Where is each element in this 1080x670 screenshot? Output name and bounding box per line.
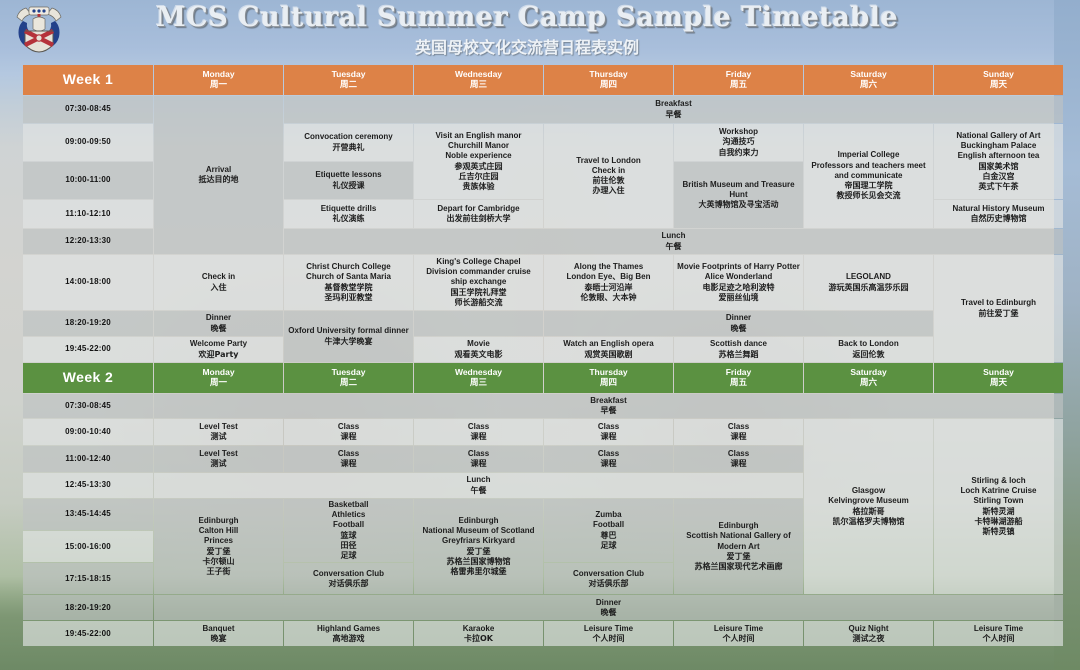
week2-label: Week 2 — [23, 363, 153, 393]
week1-label: Week 1 — [23, 65, 153, 95]
week2-tue-class-2: Class课程 — [284, 446, 413, 472]
week1-tue-etiquette-drills: Etiquette drills礼仪演练 — [284, 200, 413, 228]
week2-fri-modern-art: Edinburgh Scottish National Gallery of M… — [674, 499, 803, 594]
week1-dinner: Dinner晚餐 — [544, 311, 933, 336]
week2-tue-class-1: Class课程 — [284, 419, 413, 445]
week1-time-0900: 09:00-09:50 — [23, 124, 153, 161]
week1-time-0730: 07:30-08:45 — [23, 96, 153, 123]
page-header: MCS Cultural Summer Camp Sample Timetabl… — [0, 0, 1080, 64]
week1-wed-manor: Visit an English manor Churchill Manor N… — [414, 124, 543, 199]
week1-wed-cambridge: Depart for Cambridge出发前往剑桥大学 — [414, 200, 543, 228]
week2-fri-leisure: Leisure Time个人时间 — [674, 621, 803, 646]
week2-time-1500: 15:00-16:00 — [23, 531, 153, 562]
week2-row-0900: 09:00-10:40 Level Test测试 Class课程 Class课程… — [23, 419, 1063, 445]
week2-time-0730: 07:30-08:45 — [23, 394, 153, 418]
week2-tue-highland: Highland Games高地游戏 — [284, 621, 413, 646]
week2-time-1820: 18:20-19:20 — [23, 595, 153, 620]
week1-fri-harry-potter: Movie Footprints of Harry Potter Alice W… — [674, 255, 803, 310]
week1-time-1945: 19:45-22:00 — [23, 337, 153, 362]
week2-wed-museum: Edinburgh National Museum of Scotland Gr… — [414, 499, 543, 594]
week1-mon-dinner: Dinner晚餐 — [154, 311, 283, 336]
week2-thu-zumba: Zumba Football尊巴 足球 — [544, 499, 673, 562]
week2-time-1345: 13:45-14:45 — [23, 499, 153, 530]
page-subtitle: 英国母校文化交流营日程表实例 — [0, 34, 1054, 58]
week2-sat-glasgow: Glasgow Kelvingrove Museum格拉斯哥 凯尔温格罗夫博物馆 — [804, 419, 933, 594]
week2-tue-conversation: Conversation Club对话俱乐部 — [284, 563, 413, 594]
week1-row-1400: 14:00-18:00 Check in入住 Christ Church Col… — [23, 255, 1063, 310]
week1-day-sunday: Sunday周天 — [934, 65, 1063, 95]
week1-lunch: Lunch午餐 — [284, 229, 1063, 254]
week2-thu-conversation: Conversation Club对话俱乐部 — [544, 563, 673, 594]
timetable: Week 1 Monday周一 Tuesday周二 Wednesday周三 Th… — [22, 64, 1064, 647]
week1-sat-imperial: Imperial College Professors and teachers… — [804, 124, 933, 228]
week1-wed-movie: Movie观看英文电影 — [414, 337, 543, 362]
week1-day-saturday: Saturday周六 — [804, 65, 933, 95]
week1-mon-checkin: Check in入住 — [154, 255, 283, 310]
week2-header-row: Week 2 Monday周一 Tuesday周二 Wednesday周三 Th… — [23, 363, 1063, 393]
week1-time-1110: 11:10-12:10 — [23, 200, 153, 228]
week2-mon-edinburgh: Edinburgh Calton Hill Princes爱丁堡 卡尔顿山 王子… — [154, 499, 283, 594]
week2-day-thursday: Thursday周四 — [544, 363, 673, 393]
week2-breakfast: Breakfast早餐 — [154, 394, 1063, 418]
week2-day-sunday: Sunday周天 — [934, 363, 1063, 393]
week2-day-wednesday: Wednesday周三 — [414, 363, 543, 393]
week1-thu-thames: Along the Thames London Eye、Big Ben泰晤士河沿… — [544, 255, 673, 310]
week1-day-friday: Friday周五 — [674, 65, 803, 95]
week1-thu-opera: Watch an English opera观赏英国歌剧 — [544, 337, 673, 362]
week1-time-1400: 14:00-18:00 — [23, 255, 153, 310]
week1-sun-gallery: National Gallery of Art Buckingham Palac… — [934, 124, 1063, 199]
week2-mon-level-test-2: Level Test测试 — [154, 446, 283, 472]
week2-sun-leisure: Leisure Time个人时间 — [934, 621, 1063, 646]
week2-day-saturday: Saturday周六 — [804, 363, 933, 393]
week1-time-1820: 18:20-19:20 — [23, 311, 153, 336]
week1-time-1000: 10:00-11:00 — [23, 162, 153, 199]
week2-row-1945: 19:45-22:00 Banquet晚宴 Highland Games高地游戏… — [23, 621, 1063, 646]
week2-day-tuesday: Tuesday周二 — [284, 363, 413, 393]
week2-wed-class-2: Class课程 — [414, 446, 543, 472]
week1-tue-convocation: Convocation ceremony开营典礼 — [284, 124, 413, 161]
week2-row-1820: 18:20-19:20 Dinner晚餐 — [23, 595, 1063, 620]
week1-sun-edinburgh: Travel to Edinburgh前往爱丁堡 — [934, 255, 1063, 362]
week1-time-1220: 12:20-13:30 — [23, 229, 153, 254]
week1-tue-christchurch: Christ Church College Church of Santa Ma… — [284, 255, 413, 310]
week2-time-0900: 09:00-10:40 — [23, 419, 153, 445]
week1-header-row: Week 1 Monday周一 Tuesday周二 Wednesday周三 Th… — [23, 65, 1063, 95]
week2-thu-leisure: Leisure Time个人时间 — [544, 621, 673, 646]
week2-tue-sports: Basketball Athletics Football篮球 田径 足球 — [284, 499, 413, 562]
week1-row-0730: 07:30-08:45 Arrival抵达目的地 Breakfast早餐 — [23, 96, 1063, 123]
week2-day-monday: Monday周一 — [154, 363, 283, 393]
week1-row-1945: 19:45-22:00 Welcome Party欢迎Party Movie观看… — [23, 337, 1063, 362]
week2-thu-class-2: Class课程 — [544, 446, 673, 472]
week1-wed-blank — [414, 311, 543, 336]
week2-fri-class-2: Class课程 — [674, 446, 803, 472]
week2-day-friday: Friday周五 — [674, 363, 803, 393]
week1-sun-nhm: Natural History Museum自然历史博物馆 — [934, 200, 1063, 228]
week2-time-1245: 12:45-13:30 — [23, 473, 153, 498]
week1-tue-oxford-dinner: Oxford University formal dinner牛津大学晚宴 — [284, 311, 413, 362]
week2-wed-karaoke: Karaoke卡拉OK — [414, 621, 543, 646]
week1-fri-scottish-dance: Scottish dance苏格兰舞蹈 — [674, 337, 803, 362]
week1-day-tuesday: Tuesday周二 — [284, 65, 413, 95]
week2-time-1100: 11:00-12:40 — [23, 446, 153, 472]
week2-row-0730: 07:30-08:45 Breakfast早餐 — [23, 394, 1063, 418]
week2-thu-class-1: Class课程 — [544, 419, 673, 445]
week2-time-1715: 17:15-18:15 — [23, 563, 153, 594]
week2-fri-class-1: Class课程 — [674, 419, 803, 445]
week2-mon-banquet: Banquet晚宴 — [154, 621, 283, 646]
week1-sat-back-london: Back to London返回伦敦 — [804, 337, 933, 362]
week2-sun-stirling: Stirling & loch Loch Katrine Cruise Stir… — [934, 419, 1063, 594]
week1-mon-welcome: Welcome Party欢迎Party — [154, 337, 283, 362]
week2-dinner: Dinner晚餐 — [154, 595, 1063, 620]
week2-time-1945: 19:45-22:00 — [23, 621, 153, 646]
week1-thu-london: Travel to London Check in前往伦敦 办理入住 — [544, 124, 673, 228]
week2-sat-quiz: Quiz Night测试之夜 — [804, 621, 933, 646]
week1-wed-kings: King's College Chapel Division commander… — [414, 255, 543, 310]
week2-lunch: Lunch午餐 — [154, 473, 803, 498]
week1-fri-british-museum: British Museum and Treasure Hunt大英博物馆及寻宝… — [674, 162, 803, 228]
week2-wed-class-1: Class课程 — [414, 419, 543, 445]
week1-day-thursday: Thursday周四 — [544, 65, 673, 95]
week2-mon-level-test-1: Level Test测试 — [154, 419, 283, 445]
week1-fri-workshop: Workshop沟通技巧 自我约束力 — [674, 124, 803, 161]
week1-row-1820: 18:20-19:20 Dinner晚餐 Oxford University f… — [23, 311, 1063, 336]
week1-breakfast: Breakfast早餐 — [284, 96, 1063, 123]
week1-day-wednesday: Wednesday周三 — [414, 65, 543, 95]
week1-day-monday: Monday周一 — [154, 65, 283, 95]
page-title: MCS Cultural Summer Camp Sample Timetabl… — [0, 2, 1054, 33]
week1-mon-arrival: Arrival抵达目的地 — [154, 96, 283, 254]
week1-sat-legoland: LEGOLAND游玩英国乐高温莎乐园 — [804, 255, 933, 310]
week1-tue-etiquette-lessons: Etiquette lessons礼仪授课 — [284, 162, 413, 199]
